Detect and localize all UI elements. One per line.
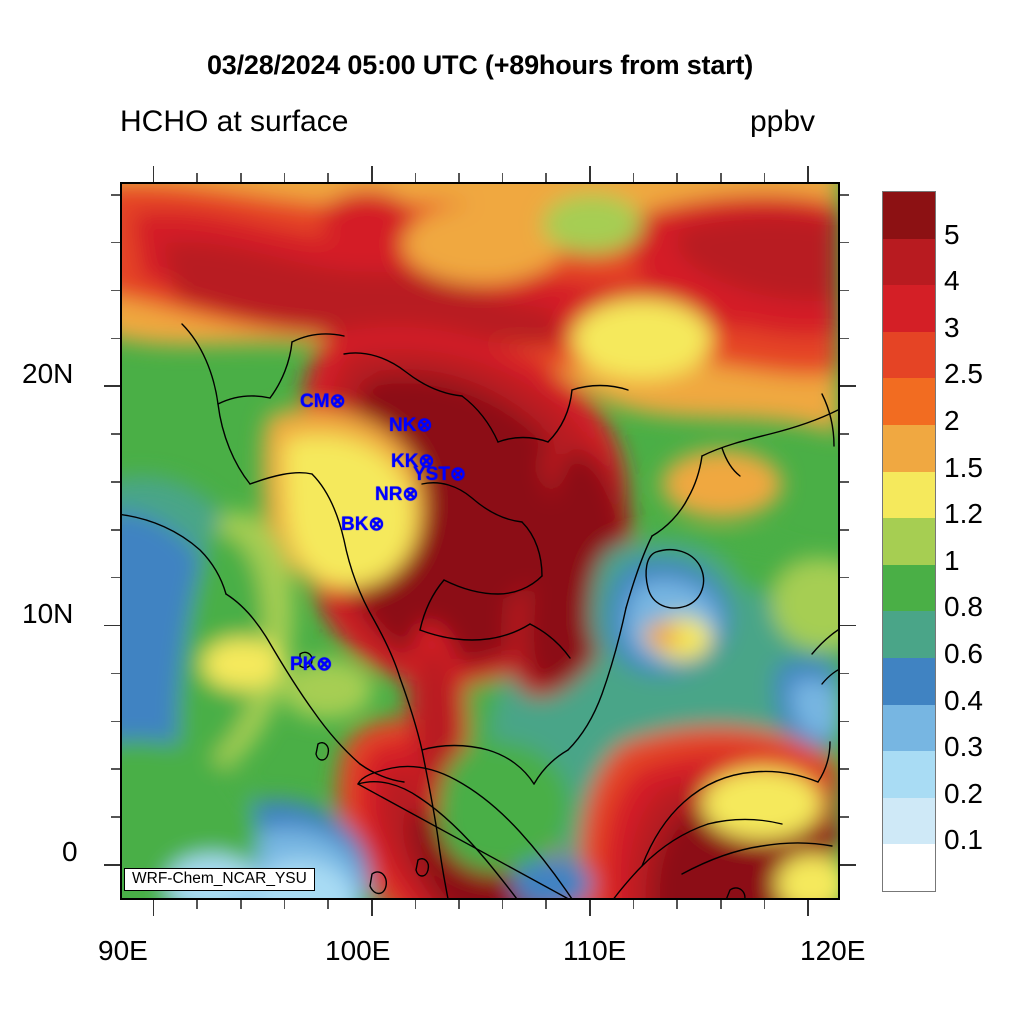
- x-tick-90: [153, 900, 155, 916]
- station-marker-bk: BK⊗: [341, 515, 384, 534]
- x-tick-94: [240, 900, 242, 909]
- colorbar-band-12: [883, 751, 935, 799]
- colorbar-tick-5: 5: [944, 219, 960, 251]
- y-tick-10: [104, 625, 120, 627]
- colorbar-tick-0p1: 0.1: [944, 824, 983, 856]
- x-tick-top-120: [807, 166, 809, 182]
- x-tick-96: [284, 900, 286, 909]
- hcho-contour-field: [122, 184, 838, 898]
- colorbar-tick-3: 3: [944, 312, 960, 344]
- y-tick-20: [104, 385, 120, 387]
- colorbar-band-9: [883, 611, 935, 659]
- x-tick-top-102: [415, 173, 417, 182]
- y-tick-right-12: [840, 577, 849, 579]
- x-tick-label-120e: 120E: [800, 935, 865, 967]
- y-tick-18: [111, 433, 120, 435]
- x-tick-108: [545, 900, 547, 909]
- x-tick-top-92: [196, 173, 198, 182]
- colorbar-band-3: [883, 332, 935, 380]
- y-tick-right-24: [840, 290, 849, 292]
- colorbar-tick-1: 1: [944, 545, 960, 577]
- page-title: 03/28/2024 05:00 UTC (+89hours from star…: [0, 50, 960, 81]
- station-label-yst: YST: [413, 464, 450, 485]
- units-label: ppbv: [750, 105, 815, 139]
- station-marker-yst: YST⊗: [413, 465, 466, 484]
- station-label-cm: CM: [300, 391, 330, 412]
- x-tick-116: [720, 900, 722, 909]
- x-tick-top-90: [153, 166, 155, 182]
- station-marker-nr: NR⊗: [375, 485, 418, 504]
- x-tick-112: [633, 900, 635, 909]
- colorbar-tick-4: 4: [944, 265, 960, 297]
- y-tick-right-20: [840, 385, 856, 387]
- colorbar-tick-0p3: 0.3: [944, 731, 983, 763]
- station-label-nr: NR: [375, 484, 402, 505]
- y-tick-22: [111, 338, 120, 340]
- y-tick-right-6: [840, 721, 849, 723]
- x-tick-114: [676, 900, 678, 909]
- y-tick-right-26: [840, 242, 849, 244]
- variable-label: HCHO at surface: [120, 105, 348, 139]
- x-tick-top-112: [633, 173, 635, 182]
- x-tick-label-90e: 90E: [98, 935, 148, 967]
- x-tick-102: [415, 900, 417, 909]
- colorbar-band-7: [883, 518, 935, 566]
- y-tick-24: [111, 290, 120, 292]
- colorbar-tick-2: 2: [944, 405, 960, 437]
- station-label-bk: BK: [341, 514, 368, 535]
- station-marker-pk: PK⊗: [290, 655, 332, 674]
- colorbar-tick-1p5: 1.5: [944, 452, 983, 484]
- y-tick-8: [111, 673, 120, 675]
- x-tick-top-98: [327, 173, 329, 182]
- x-tick-top-106: [502, 173, 504, 182]
- x-tick-top-108: [545, 173, 547, 182]
- y-tick-16: [111, 481, 120, 483]
- y-tick-12: [111, 577, 120, 579]
- colorbar-band-14: [883, 844, 935, 891]
- x-tick-120: [807, 900, 809, 916]
- y-tick-label-20n: 20N: [22, 358, 73, 390]
- y-tick-14: [111, 529, 120, 531]
- colorbar-band-5: [883, 425, 935, 473]
- station-marker-nk: NK⊗: [389, 416, 432, 435]
- y-tick-right-4: [840, 768, 849, 770]
- x-tick-label-110e: 110E: [563, 935, 626, 967]
- colorbar-band-8: [883, 565, 935, 613]
- colorbar-tick-0p6: 0.6: [944, 638, 983, 670]
- colorbar-tick-1p2: 1.2: [944, 498, 983, 530]
- y-tick-right-16: [840, 481, 849, 483]
- colorbar-band-13: [883, 798, 935, 846]
- colorbar-tick-0p8: 0.8: [944, 591, 983, 623]
- colorbar-tick-0p4: 0.4: [944, 685, 983, 717]
- colorbar-band-10: [883, 658, 935, 706]
- y-tick-26: [111, 242, 120, 244]
- colorbar-band-0: [883, 192, 935, 240]
- x-tick-92: [196, 900, 198, 909]
- x-tick-top-104: [458, 173, 460, 182]
- colorbar: [882, 191, 936, 892]
- y-tick-right-8: [840, 673, 849, 675]
- y-tick-4: [111, 768, 120, 770]
- map-plot-area: [120, 182, 840, 900]
- colorbar-band-2: [883, 285, 935, 333]
- y-tick-2: [111, 816, 120, 818]
- colorbar-band-11: [883, 705, 935, 753]
- x-tick-top-110: [589, 166, 591, 182]
- x-tick-110: [589, 900, 591, 916]
- x-tick-top-94: [240, 173, 242, 182]
- y-tick-right-10: [840, 625, 856, 627]
- hcho-surface-map-figure: 03/28/2024 05:00 UTC (+89hours from star…: [0, 0, 1024, 1024]
- x-tick-top-118: [764, 173, 766, 182]
- y-tick-right-14: [840, 529, 849, 531]
- x-tick-top-116: [720, 173, 722, 182]
- y-tick-right-2: [840, 816, 849, 818]
- x-tick-top-100: [371, 166, 373, 182]
- y-tick-label-0: 0: [62, 836, 78, 868]
- y-tick-label-10n: 10N: [22, 598, 73, 630]
- y-tick-28: [111, 194, 120, 196]
- colorbar-band-1: [883, 239, 935, 287]
- colorbar-tick-0p2: 0.2: [944, 778, 983, 810]
- colorbar-band-6: [883, 472, 935, 520]
- colorbar-tick-2p5: 2.5: [944, 358, 983, 390]
- station-marker-cm: CM⊗: [300, 392, 345, 411]
- model-attribution: WRF-Chem_NCAR_YSU: [124, 868, 315, 891]
- y-tick-right-22: [840, 338, 849, 340]
- x-tick-top-96: [284, 173, 286, 182]
- y-tick-right-18: [840, 433, 849, 435]
- y-tick-0: [104, 864, 120, 866]
- x-tick-label-100e: 100E: [325, 935, 390, 967]
- station-label-nk: NK: [389, 415, 416, 436]
- x-tick-106: [502, 900, 504, 909]
- x-tick-118: [764, 900, 766, 909]
- x-tick-98: [327, 900, 329, 909]
- x-tick-top-114: [676, 173, 678, 182]
- y-tick-right-28: [840, 194, 849, 196]
- colorbar-band-4: [883, 378, 935, 426]
- y-tick-6: [111, 721, 120, 723]
- x-tick-104: [458, 900, 460, 909]
- y-tick-right-0: [840, 864, 856, 866]
- station-label-pk: PK: [290, 654, 316, 675]
- x-tick-100: [371, 900, 373, 916]
